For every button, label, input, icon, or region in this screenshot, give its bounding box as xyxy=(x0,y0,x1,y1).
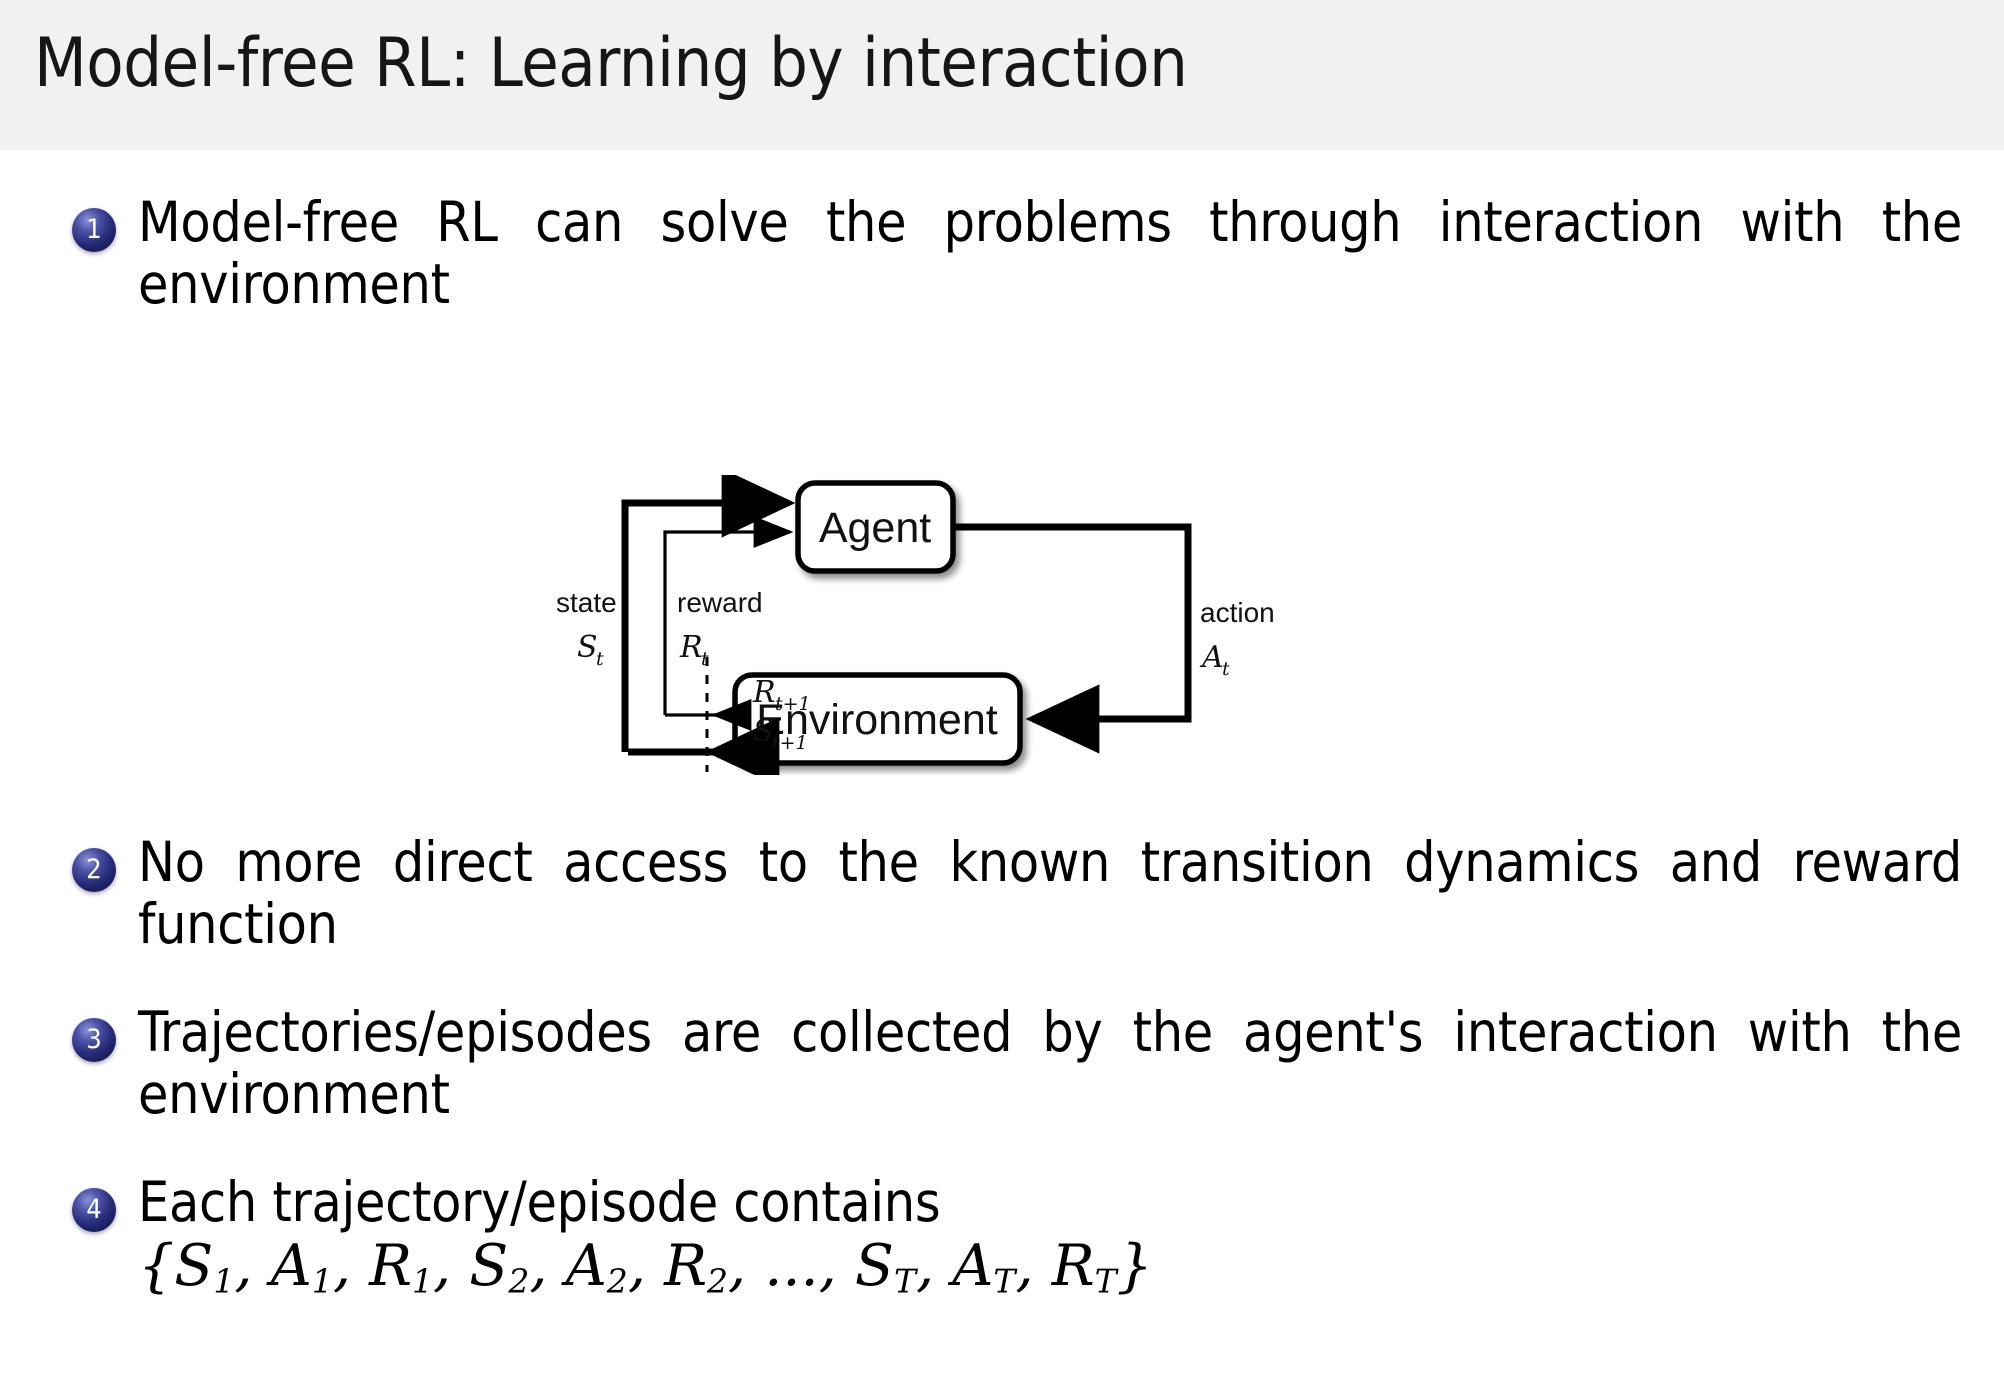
agent-box-label: Agent xyxy=(819,504,931,552)
action-label-group: action A t xyxy=(1199,597,1275,680)
bullet-text-1: Model-free RL can solve the problems thr… xyxy=(138,192,1962,315)
bullet-marker-3: 3 xyxy=(72,1018,116,1062)
reward-subscript: t xyxy=(701,648,709,670)
page-title: Model-free RL: Learning by interaction xyxy=(34,24,1187,103)
state-label: state xyxy=(556,587,617,618)
state-symbol: S xyxy=(577,630,598,665)
slide-header-bar: Model-free RL: Learning by interaction xyxy=(0,0,2004,150)
list-item: 3 Trajectories/episodes are collected by… xyxy=(72,1002,1962,1125)
agent-environment-diagram: Agent Environment state xyxy=(540,475,1560,775)
reward-label-group: reward R t xyxy=(677,587,763,670)
trajectory-formula: {S1, A1, R1, S2, A2, R2, ..., ST, AT, RT… xyxy=(138,1234,1962,1300)
bullet-marker-4: 4 xyxy=(72,1188,116,1232)
bullet-text-2: No more direct access to the known trans… xyxy=(138,832,1962,955)
state-subscript: t xyxy=(596,648,604,670)
reward-symbol: R xyxy=(679,630,703,665)
state-label-group: state S t xyxy=(556,587,617,670)
bullet-text-4: Each trajectory/episode contains xyxy=(138,1172,1962,1234)
action-label: action xyxy=(1200,597,1275,628)
reward-next-symbol: R xyxy=(752,675,776,710)
action-subscript: t xyxy=(1222,658,1230,680)
agent-box: Agent xyxy=(798,483,953,571)
bullet-marker-1: 1 xyxy=(72,208,116,252)
action-symbol: A xyxy=(1199,640,1224,675)
state-next-subscript: t+1 xyxy=(772,732,808,754)
slide-content: 1 Model-free RL can solve the problems t… xyxy=(0,150,2004,1394)
reward-label: reward xyxy=(677,587,763,618)
bullet-marker-2: 2 xyxy=(72,848,116,892)
state-next-symbol: S xyxy=(753,714,774,749)
list-item: 4 Each trajectory/episode contains {S1, … xyxy=(72,1172,1962,1300)
list-item: 1 Model-free RL can solve the problems t… xyxy=(72,192,1962,315)
diagram-svg: Agent Environment state xyxy=(540,475,1560,775)
bullet-text-3: Trajectories/episodes are collected by t… xyxy=(138,1002,1962,1125)
list-item: 2 No more direct access to the known tra… xyxy=(72,832,1962,955)
reward-next-subscript: t+1 xyxy=(775,693,811,715)
